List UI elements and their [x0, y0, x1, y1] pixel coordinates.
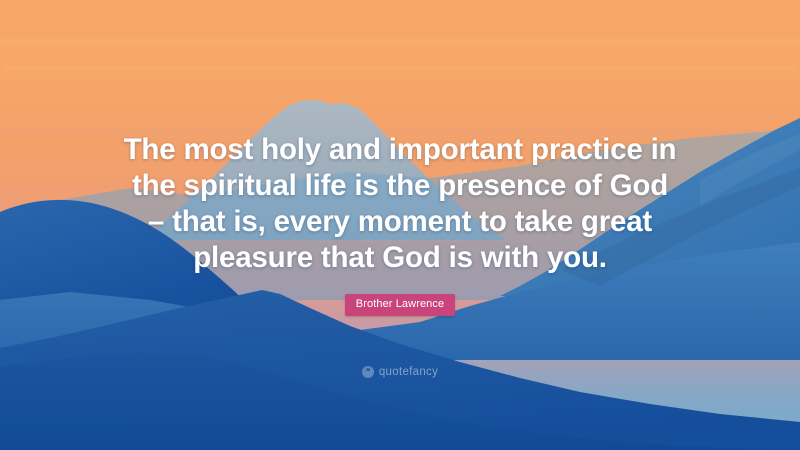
quote-mark-icon: ❝ — [362, 366, 374, 378]
watermark-brand: quotefancy — [379, 366, 438, 378]
author-badge[interactable]: Brother Lawrence — [345, 294, 455, 316]
quote-text: The most holy and important practice in … — [120, 132, 680, 276]
quote-content: The most holy and important practice in … — [0, 0, 800, 450]
watermark[interactable]: ❝ quotefancy — [0, 366, 800, 378]
quote-wallpaper: The most holy and important practice in … — [0, 0, 800, 450]
